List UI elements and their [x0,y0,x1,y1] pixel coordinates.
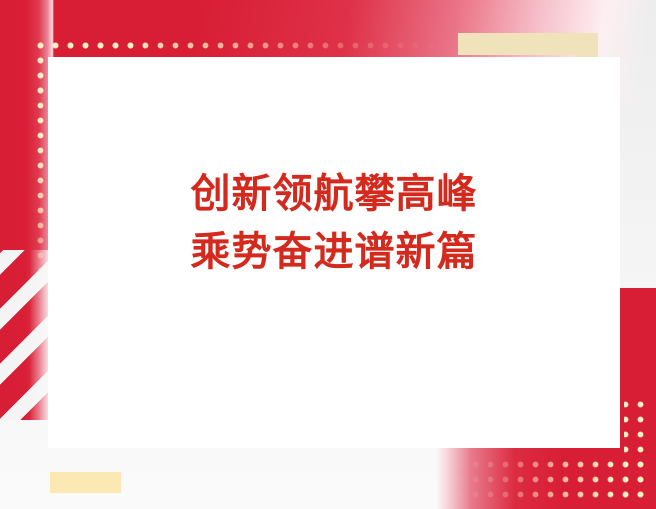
headline-block: 创新领航攀高峰 乘势奋进谱新篇 [48,165,620,281]
dot-matrix-right-column-icon [624,394,648,502]
headline-line-2: 乘势奋进谱新篇 [48,223,620,281]
diagonal-stripes-decor [0,250,54,420]
content-card: 创新领航攀高峰 乘势奋进谱新篇 [48,57,620,448]
dot-matrix-bottom-right-icon [448,454,648,502]
poster-canvas: 创新领航攀高峰 乘势奋进谱新篇 [0,0,656,509]
gold-accent-bar [50,472,121,493]
headline-line-1: 创新领航攀高峰 [48,165,620,223]
